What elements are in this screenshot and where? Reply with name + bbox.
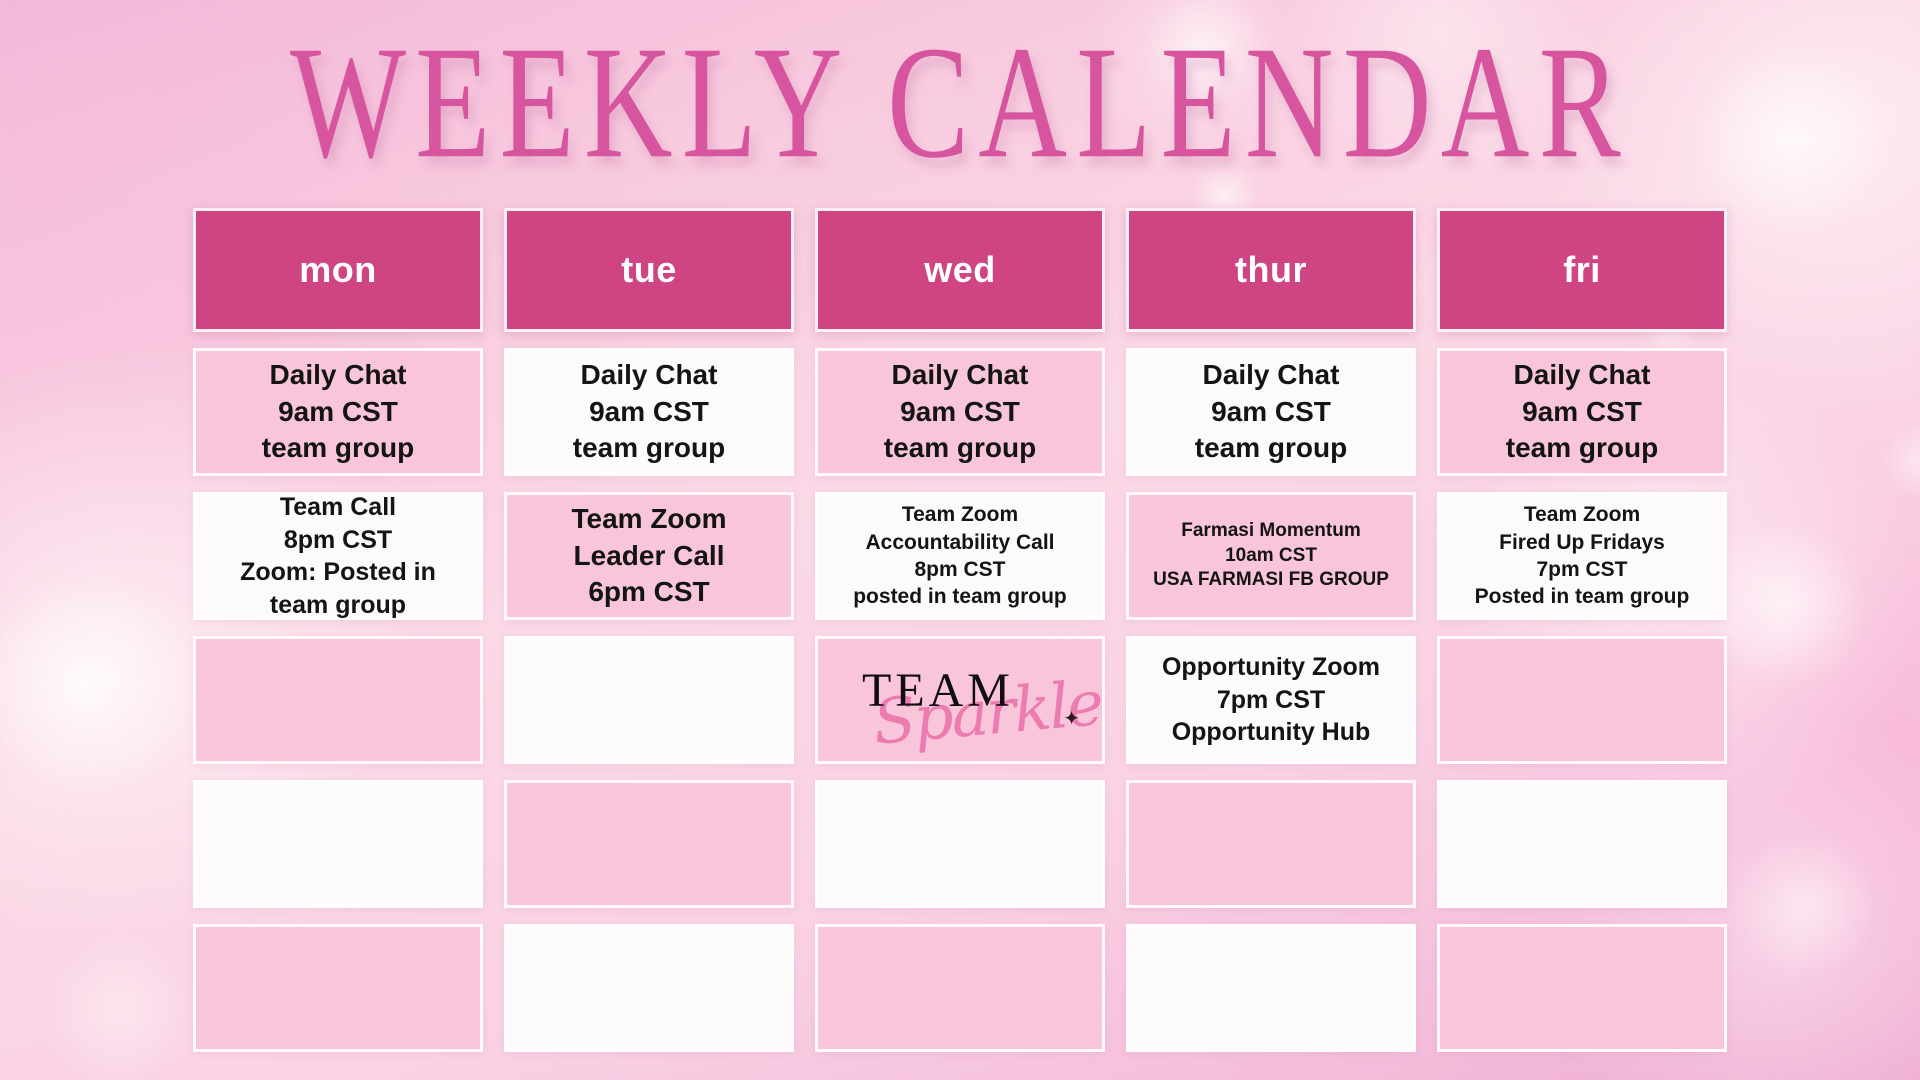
calendar-cell-mon-1[interactable]: Daily Chat 9am CST team group xyxy=(193,348,483,476)
calendar-cell-wed-3[interactable]: Sparkle TEAM ✦ xyxy=(815,636,1105,764)
day-header-label: thur xyxy=(1235,249,1307,291)
event-text: Farmasi Momentum 10am CST USA FARMASI FB… xyxy=(1153,519,1389,593)
calendar-cell-fri-1[interactable]: Daily Chat 9am CST team group xyxy=(1437,348,1727,476)
logo-primary-word: TEAM xyxy=(862,663,1014,718)
day-header-tue[interactable]: tue xyxy=(504,208,794,332)
calendar-cell-wed-5[interactable] xyxy=(815,924,1105,1052)
calendar-cell-wed-1[interactable]: Daily Chat 9am CST team group xyxy=(815,348,1105,476)
calendar-cell-fri-5[interactable] xyxy=(1437,924,1727,1052)
calendar-cell-thur-2[interactable]: Farmasi Momentum 10am CST USA FARMASI FB… xyxy=(1126,492,1416,620)
page-title: WEEKLY CALENDAR xyxy=(67,22,1853,183)
calendar-cell-tue-4[interactable] xyxy=(504,780,794,908)
calendar-cell-fri-3[interactable] xyxy=(1437,636,1727,764)
event-text: Daily Chat 9am CST team group xyxy=(1506,357,1658,466)
calendar-row-2: Team Call 8pm CST Zoom: Posted in team g… xyxy=(193,492,1727,620)
calendar-cell-wed-4[interactable] xyxy=(815,780,1105,908)
calendar-row-5 xyxy=(193,924,1727,1052)
calendar-cell-mon-3[interactable] xyxy=(193,636,483,764)
event-text: Team Zoom Accountability Call 8pm CST po… xyxy=(853,501,1067,610)
calendar-cell-thur-4[interactable] xyxy=(1126,780,1416,908)
calendar-cell-mon-4[interactable] xyxy=(193,780,483,908)
calendar-cell-thur-5[interactable] xyxy=(1126,924,1416,1052)
calendar-cell-tue-5[interactable] xyxy=(504,924,794,1052)
calendar-row-4 xyxy=(193,780,1727,908)
day-header-thur[interactable]: thur xyxy=(1126,208,1416,332)
calendar-cell-thur-1[interactable]: Daily Chat 9am CST team group xyxy=(1126,348,1416,476)
calendar-row-3: Sparkle TEAM ✦ Opportunity Zoom 7pm CST … xyxy=(193,636,1727,764)
event-text: Daily Chat 9am CST team group xyxy=(573,357,725,466)
day-header-label: tue xyxy=(621,249,677,291)
day-header-fri[interactable]: fri xyxy=(1437,208,1727,332)
event-text: Team Zoom Leader Call 6pm CST xyxy=(571,501,726,610)
day-header-label: mon xyxy=(299,249,377,291)
calendar-header-row: mon tue wed thur fri xyxy=(193,208,1727,332)
sparkle-star-icon: ✦ xyxy=(1063,709,1080,729)
event-text: Team Zoom Fired Up Fridays 7pm CST Poste… xyxy=(1475,501,1690,610)
day-header-mon[interactable]: mon xyxy=(193,208,483,332)
day-header-label: fri xyxy=(1563,249,1601,291)
event-text: Daily Chat 9am CST team group xyxy=(1195,357,1347,466)
day-header-wed[interactable]: wed xyxy=(815,208,1105,332)
event-text: Team Call 8pm CST Zoom: Posted in team g… xyxy=(240,491,436,621)
event-text: Daily Chat 9am CST team group xyxy=(884,357,1036,466)
event-text: Daily Chat 9am CST team group xyxy=(262,357,414,466)
calendar-cell-wed-2[interactable]: Team Zoom Accountability Call 8pm CST po… xyxy=(815,492,1105,620)
event-text: Opportunity Zoom 7pm CST Opportunity Hub xyxy=(1162,651,1380,749)
calendar-cell-tue-2[interactable]: Team Zoom Leader Call 6pm CST xyxy=(504,492,794,620)
calendar-row-1: Daily Chat 9am CST team group Daily Chat… xyxy=(193,348,1727,476)
calendar-stage: WEEKLY CALENDAR mon tue wed thur fri Dai… xyxy=(0,0,1920,1080)
calendar-cell-fri-2[interactable]: Team Zoom Fired Up Fridays 7pm CST Poste… xyxy=(1437,492,1727,620)
weekly-calendar-grid: mon tue wed thur fri Daily Chat 9am CST … xyxy=(193,208,1727,1052)
calendar-cell-fri-4[interactable] xyxy=(1437,780,1727,908)
calendar-cell-mon-2[interactable]: Team Call 8pm CST Zoom: Posted in team g… xyxy=(193,492,483,620)
calendar-cell-mon-5[interactable] xyxy=(193,924,483,1052)
calendar-cell-thur-3[interactable]: Opportunity Zoom 7pm CST Opportunity Hub xyxy=(1126,636,1416,764)
day-header-label: wed xyxy=(924,249,996,291)
team-sparkle-logo: Sparkle TEAM ✦ xyxy=(824,643,1096,757)
calendar-cell-tue-1[interactable]: Daily Chat 9am CST team group xyxy=(504,348,794,476)
calendar-cell-tue-3[interactable] xyxy=(504,636,794,764)
